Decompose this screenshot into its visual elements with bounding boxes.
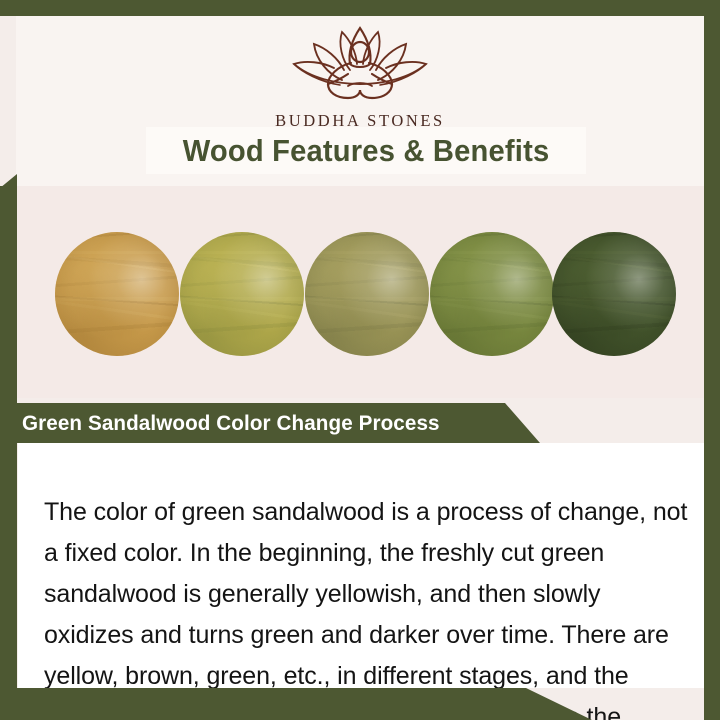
frame-left-bar bbox=[0, 186, 17, 720]
bead-stage-1-golden-tan bbox=[55, 232, 179, 356]
bead-shading bbox=[430, 232, 554, 356]
bead-shading bbox=[180, 232, 304, 356]
bead-stage-5-dark-green bbox=[552, 232, 676, 356]
section-banner-label: Green Sandalwood Color Change Process bbox=[22, 411, 440, 436]
bead-stage-3-olive bbox=[305, 232, 429, 356]
frame-top-bar bbox=[0, 0, 720, 16]
section-banner: Green Sandalwood Color Change Process bbox=[0, 403, 540, 443]
frame-bottom-bar bbox=[0, 688, 592, 720]
bead-shading bbox=[552, 232, 676, 356]
bead-stage-4-medium-green bbox=[430, 232, 554, 356]
bead-stage-2-yellow-green bbox=[180, 232, 304, 356]
bead-color-stages bbox=[17, 232, 704, 362]
bead-shading bbox=[55, 232, 179, 356]
page-title: Wood Features & Benefits bbox=[183, 133, 550, 169]
page-title-box: Wood Features & Benefits bbox=[146, 127, 586, 174]
frame-right-bar bbox=[704, 0, 720, 720]
bead-shading bbox=[305, 232, 429, 356]
description-card: The color of green sandalwood is a proce… bbox=[18, 443, 704, 688]
description-paragraph: The color of green sandalwood is a proce… bbox=[44, 492, 689, 720]
poster-root: BUDDHA STONES Wood Features & Benefits G… bbox=[0, 0, 720, 720]
